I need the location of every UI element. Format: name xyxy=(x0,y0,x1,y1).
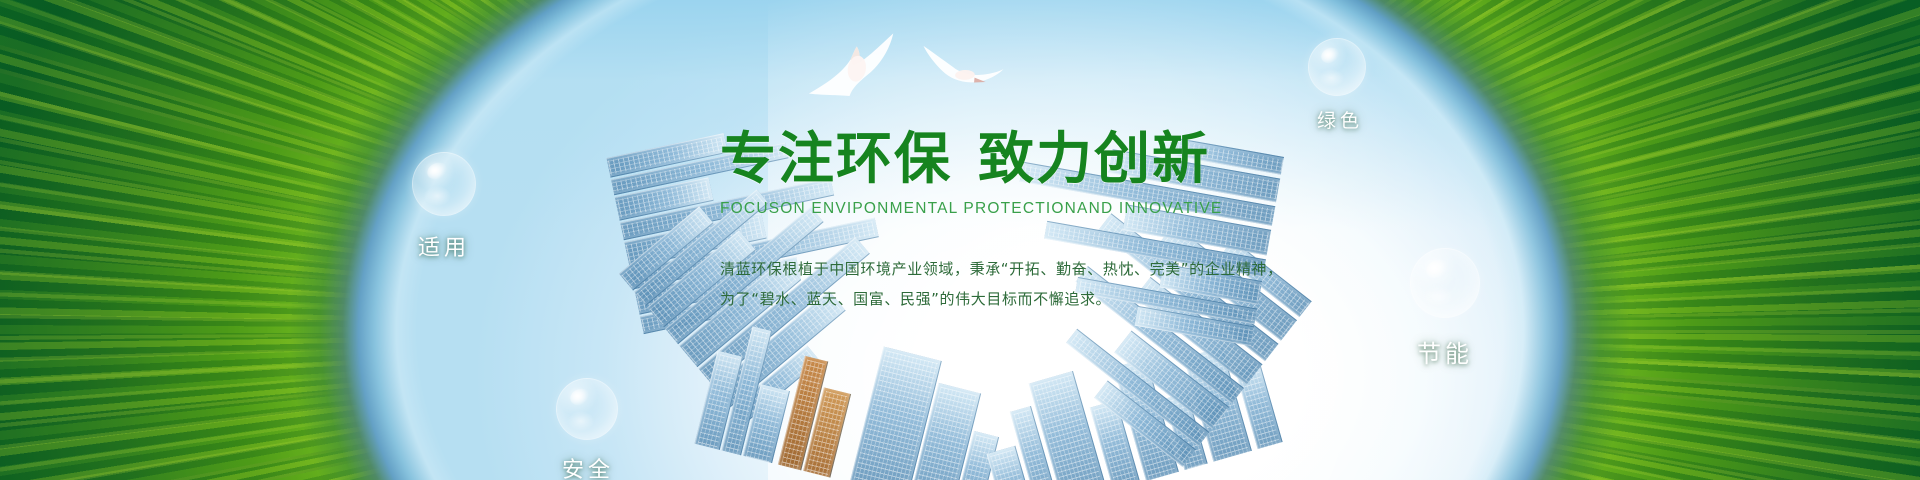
feature-label: 适用 xyxy=(418,230,470,262)
paragraph-line-2: 为了“碧水、蓝天、国富、民强”的伟大目标而不懈追求。 xyxy=(720,284,1460,314)
hero-banner: 适用 安全 绿色 节能 专注环保致力创新 FOCUSON ENVIPONMENT… xyxy=(0,0,1920,480)
headline-part-1: 专注环保 xyxy=(720,127,952,192)
feature-safety[interactable]: 安全 xyxy=(548,378,628,480)
paragraph-line-1: 清蓝环保根植于中国环境产业领域，秉承“开拓、勤奋、热忱、完美”的企业精神， xyxy=(720,254,1460,284)
page-title: 专注环保致力创新 xyxy=(720,130,1460,190)
feature-label: 节能 xyxy=(1417,334,1473,369)
feature-label: 绿色 xyxy=(1317,106,1363,133)
feature-label: 安全 xyxy=(562,452,614,480)
banner-content: 专注环保致力创新 FOCUSON ENVIPONMENTAL PROTECTIO… xyxy=(720,130,1460,314)
banner-paragraph: 清蓝环保根植于中国环境产业领域，秉承“开拓、勤奋、热忱、完美”的企业精神， 为了… xyxy=(720,254,1460,314)
feature-applicable[interactable]: 适用 xyxy=(404,152,484,274)
headline-part-2: 致力创新 xyxy=(978,127,1210,192)
bubble-icon xyxy=(556,378,618,440)
bubble-icon xyxy=(1308,38,1366,96)
bubble-icon xyxy=(412,152,476,216)
page-subtitle: FOCUSON ENVIPONMENTAL PROTECTIONAND INNO… xyxy=(720,200,1460,218)
